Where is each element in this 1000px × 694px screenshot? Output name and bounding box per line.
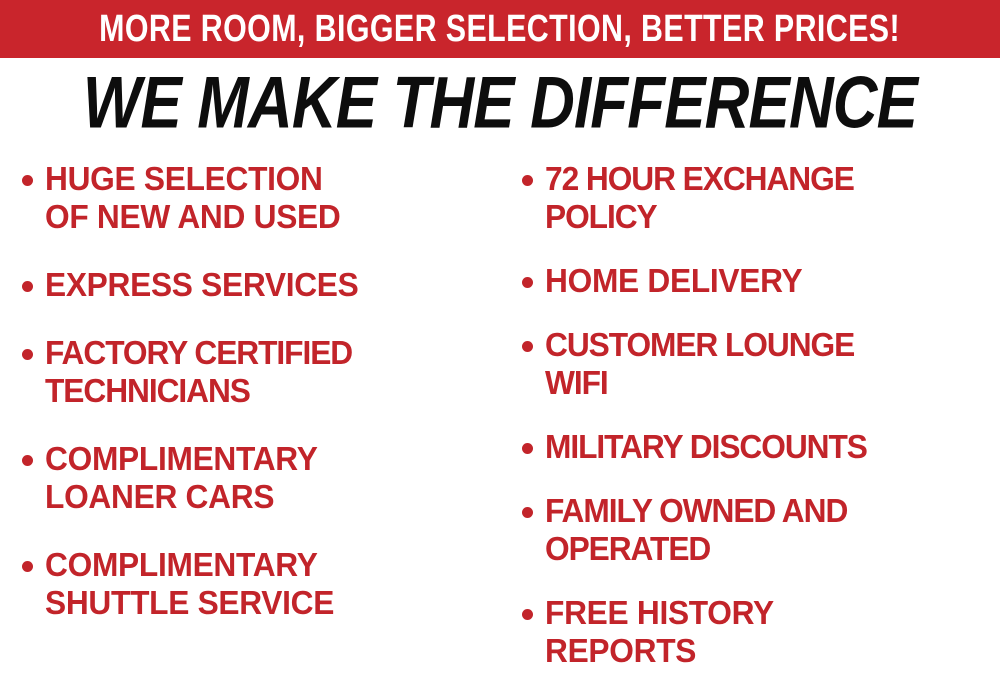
- bullet-dot-icon: [522, 341, 533, 352]
- list-item-label: FACTORY CERTIFIED TECHNICIANS: [45, 334, 352, 410]
- list-item-label: EXPRESS SERVICES: [45, 266, 359, 304]
- list-item: 72 HOUR EXCHANGE POLICY: [522, 160, 998, 236]
- list-item: COMPLIMENTARY LOANER CARS: [22, 440, 494, 516]
- bullet-dot-icon: [22, 455, 33, 466]
- list-item-label: COMPLIMENTARY LOANER CARS: [45, 440, 318, 516]
- bullet-dot-icon: [22, 281, 33, 292]
- bullet-dot-icon: [522, 507, 533, 518]
- benefits-column-right: 72 HOUR EXCHANGE POLICY HOME DELIVERY CU…: [500, 160, 1000, 694]
- list-item: EXPRESS SERVICES: [22, 266, 494, 304]
- headline-container: WE MAKE THE DIFFERENCE: [0, 62, 1000, 144]
- benefits-column-left: HUGE SELECTION OF NEW AND USED EXPRESS S…: [0, 160, 500, 652]
- list-item: FAMILY OWNED AND OPERATED: [522, 492, 998, 568]
- bullet-dot-icon: [22, 349, 33, 360]
- benefits-columns: HUGE SELECTION OF NEW AND USED EXPRESS S…: [0, 160, 1000, 694]
- list-item: MILITARY DISCOUNTS: [522, 428, 998, 466]
- bullet-dot-icon: [522, 277, 533, 288]
- list-item: FREE HISTORY REPORTS: [522, 594, 998, 670]
- list-item-label: CUSTOMER LOUNGE WIFI: [545, 326, 854, 402]
- bullet-dot-icon: [522, 609, 533, 620]
- list-item-label: HOME DELIVERY: [545, 262, 802, 300]
- list-item-label: FREE HISTORY REPORTS: [545, 594, 774, 670]
- list-item: HOME DELIVERY: [522, 262, 998, 300]
- list-item: HUGE SELECTION OF NEW AND USED: [22, 160, 494, 236]
- list-item-label: COMPLIMENTARY SHUTTLE SERVICE: [45, 546, 334, 622]
- bullet-dot-icon: [22, 175, 33, 186]
- top-banner: MORE ROOM, BIGGER SELECTION, BETTER PRIC…: [0, 0, 1000, 58]
- list-item-label: HUGE SELECTION OF NEW AND USED: [45, 160, 340, 236]
- top-banner-text: MORE ROOM, BIGGER SELECTION, BETTER PRIC…: [100, 9, 901, 49]
- list-item: CUSTOMER LOUNGE WIFI: [522, 326, 998, 402]
- bullet-dot-icon: [522, 443, 533, 454]
- list-item-label: 72 HOUR EXCHANGE POLICY: [545, 160, 854, 236]
- bullet-dot-icon: [522, 175, 533, 186]
- promo-poster: MORE ROOM, BIGGER SELECTION, BETTER PRIC…: [0, 0, 1000, 694]
- page-title: WE MAKE THE DIFFERENCE: [83, 65, 917, 140]
- list-item-label: MILITARY DISCOUNTS: [545, 428, 867, 466]
- list-item-label: FAMILY OWNED AND OPERATED: [545, 492, 847, 568]
- list-item: FACTORY CERTIFIED TECHNICIANS: [22, 334, 494, 410]
- list-item: COMPLIMENTARY SHUTTLE SERVICE: [22, 546, 494, 622]
- bullet-dot-icon: [22, 561, 33, 572]
